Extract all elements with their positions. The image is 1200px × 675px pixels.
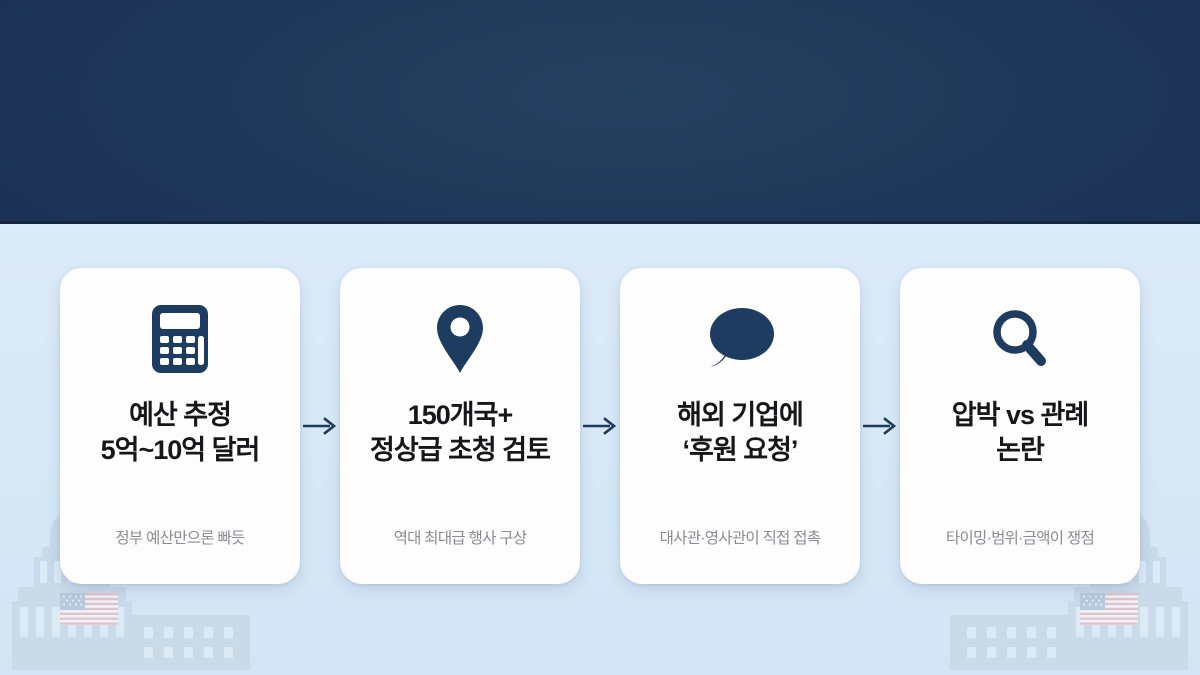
- map-pin-icon: [434, 296, 486, 382]
- flow-card-3-caption: 대사관·영사관이 직접 접촉: [620, 526, 860, 548]
- flow-steps-row: 예산 추정 5억~10억 달러 정부 예산만으론 빠듯 150개국+ 정상급 초…: [0, 268, 1200, 584]
- flow-card-3[interactable]: 해외 기업에 ‘후원 요청’ 대사관·영사관이 직접 접촉: [620, 268, 860, 584]
- flow-card-2-caption: 역대 최대급 행사 구상: [340, 526, 580, 548]
- flow-card-4-caption: 타이밍·범위·금액이 쟁점: [900, 526, 1140, 548]
- flow-card-2[interactable]: 150개국+ 정상급 초청 검토 역대 최대급 행사 구상: [340, 268, 580, 584]
- flow-arrow-3: [860, 268, 900, 584]
- infographic-canvas: 트럼프 행정부의 ‘250주년 후원’ 요청 논란 축하 협찬인가, 외교 압박…: [0, 0, 1200, 675]
- flow-arrow-1: [300, 268, 340, 584]
- flow-card-4[interactable]: 압박 vs 관례 논란 타이밍·범위·금액이 쟁점: [900, 268, 1140, 584]
- decor-flag-left: [60, 593, 118, 630]
- flow-arrow-2: [580, 268, 620, 584]
- header-band: [0, 0, 1200, 224]
- flow-card-1-title: 예산 추정 5억~10억 달러: [95, 398, 266, 468]
- speech-bubble-icon: [703, 296, 777, 382]
- flow-card-4-title: 압박 vs 관례 논란: [946, 398, 1094, 468]
- flow-card-1[interactable]: 예산 추정 5억~10억 달러 정부 예산만으론 빠듯: [60, 268, 300, 584]
- decor-flag-right: [1080, 593, 1138, 630]
- flow-card-3-title: 해외 기업에 ‘후원 요청’: [671, 398, 809, 468]
- magnifier-icon: [989, 296, 1051, 382]
- flow-card-1-caption: 정부 예산만으론 빠듯: [60, 526, 300, 548]
- flow-card-2-title: 150개국+ 정상급 초청 검토: [364, 398, 556, 468]
- calculator-icon: [151, 296, 209, 382]
